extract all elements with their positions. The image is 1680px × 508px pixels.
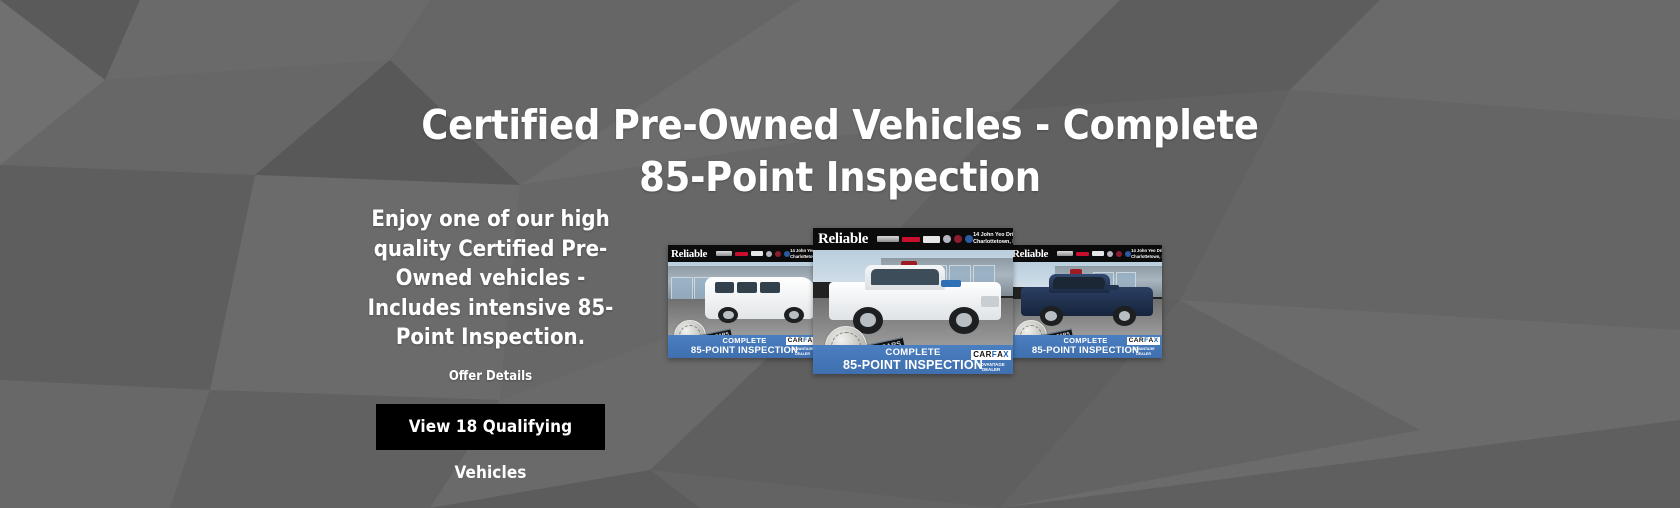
ram-logo-icon — [877, 236, 899, 242]
carfax-sub-line2: DEALER — [971, 367, 1011, 372]
jeep-logo-icon — [1092, 251, 1104, 256]
cab-window — [1053, 277, 1105, 289]
oem-brand-logos — [877, 235, 973, 243]
vehicle-card-center[interactable]: Reliable 14 John Yeo Drive Charlottetown… — [813, 228, 1013, 374]
dealer-address-line1: 14 John Yeo Drive — [973, 232, 1013, 238]
dealer-address: 14 John Yeo Drive Charlottetown, PE — [1131, 248, 1162, 259]
certification-banner: COMPLETE 85-POINT INSPECTION CARFAX ADVA… — [668, 335, 821, 358]
wheel — [784, 307, 804, 323]
wheel — [1113, 306, 1136, 326]
front-grille — [981, 296, 999, 307]
dealer-header: Reliable 14 John Yeo Drive Charlottetown… — [668, 245, 821, 262]
side-mirror — [1104, 285, 1119, 290]
dealer-header: Reliable 14 John Yeo Drive Charlottetown… — [1009, 245, 1162, 262]
mopar-logo-icon — [965, 235, 973, 243]
dealer-name: Reliable — [818, 231, 868, 248]
fiat-logo-icon — [775, 251, 781, 257]
van-window — [715, 282, 733, 294]
certification-banner: COMPLETE 85-POINT INSPECTION CARFAX ADVA… — [1009, 335, 1162, 358]
vehicle-card-right[interactable]: Reliable 14 John Yeo Drive Charlottetown… — [1009, 245, 1162, 358]
fiat-logo-icon — [954, 235, 962, 243]
van-window — [737, 282, 757, 294]
dealer-header: Reliable 14 John Yeo Drive Charlottetown… — [813, 228, 1013, 250]
wheel — [949, 307, 979, 334]
carfax-logo-icon: CARFAX — [1127, 337, 1160, 345]
oem-brand-logos — [716, 251, 790, 257]
offer-description: Enjoy one of our high quality Certified … — [348, 205, 633, 353]
carfax-logo-icon: CARFAX — [971, 350, 1011, 360]
fiat-logo-icon — [1116, 251, 1122, 257]
offer-copy-column: Enjoy one of our high quality Certified … — [348, 205, 633, 450]
wheel — [718, 307, 738, 323]
jeep-logo-icon — [751, 251, 763, 256]
ram-logo-icon — [1057, 251, 1073, 256]
dealer-address: 14 John Yeo Drive Charlottetown, PE — [973, 232, 1013, 245]
page-title: Certified Pre-Owned Vehicles - Complete … — [390, 99, 1290, 203]
view-qualifying-vehicles-button[interactable]: View 18 Qualifying Vehicles — [376, 404, 605, 450]
cab-window — [871, 269, 939, 285]
chrysler-logo-icon — [766, 251, 772, 257]
dodge-logo-icon — [902, 237, 920, 242]
chrysler-logo-icon — [943, 235, 951, 243]
carfax-sub-line2: DEALER — [1127, 352, 1160, 356]
dealer-address-line2: Charlottetown, PE — [973, 239, 1013, 245]
offer-details-link[interactable]: Offer Details — [449, 369, 532, 384]
dealer-name: Reliable — [671, 248, 707, 260]
promo-banner: Certified Pre-Owned Vehicles - Complete … — [0, 0, 1680, 508]
carfax-badge: CARFAX ADVANTAGE DEALER — [1127, 329, 1160, 356]
dealer-name: Reliable — [1012, 248, 1048, 260]
certification-banner: COMPLETE 85-POINT INSPECTION CARFAX ADVA… — [813, 345, 1013, 374]
dealer-address-line1: 14 John Yeo Drive — [1131, 248, 1162, 253]
oem-brand-logos — [1057, 251, 1131, 257]
vehicle-card-group: Reliable 14 John Yeo Drive Charlottetown… — [668, 228, 1268, 388]
chrysler-logo-icon — [1107, 251, 1113, 257]
vehicle-card-left[interactable]: Reliable 14 John Yeo Drive Charlottetown… — [668, 245, 821, 358]
dealer-address-line2: Charlottetown, PE — [1131, 254, 1162, 259]
jeep-logo-icon — [923, 236, 940, 243]
wheel — [1040, 306, 1063, 326]
dodge-logo-icon — [735, 252, 748, 256]
side-mirror — [941, 280, 961, 287]
ram-logo-icon — [716, 251, 732, 256]
dodge-logo-icon — [1076, 252, 1089, 256]
van-window — [760, 282, 780, 294]
carfax-badge: CARFAX ADVANTAGE DEALER — [971, 344, 1011, 372]
